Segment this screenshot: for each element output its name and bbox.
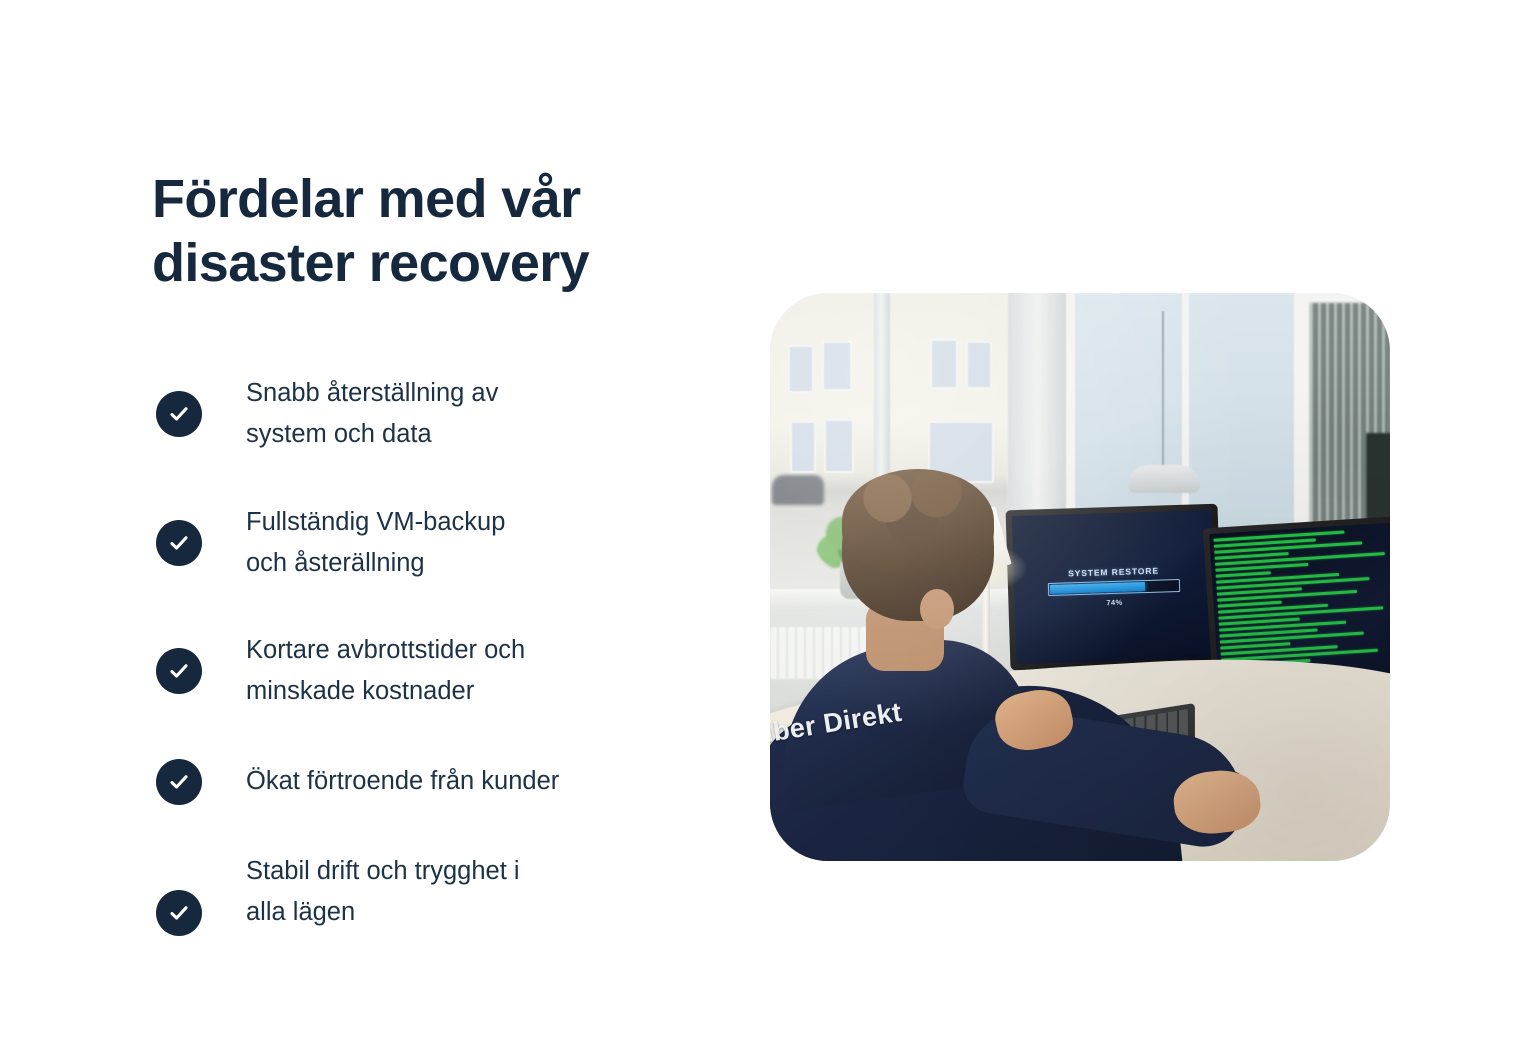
progress-percent-label: 74% [1106,598,1122,608]
check-circle-icon [156,759,202,805]
system-restore-screen: SYSTEM RESTORE 74% [1012,510,1217,664]
benefit-label: Fullständig VM-backup och åsterällning [246,502,505,585]
check-circle-icon [156,648,202,694]
slide-root: Fördelar med vår disaster recovery Snabb… [0,0,1533,1040]
technician-hair [842,469,994,573]
building-window [822,341,852,391]
list-item: Ökat förtroende från kunder [152,759,712,805]
parked-car [772,475,824,505]
benefit-label: Snabb återställning av system och data [246,373,498,456]
building-window [788,345,814,393]
building-window [824,419,854,473]
list-item: Kortare avbrottstider och minskade kostn… [152,630,712,713]
list-item: Fullständig VM-backup och åsterällning [152,502,712,585]
office-scene-image: SYSTEM RESTORE 74% [770,293,1390,861]
progress-bar [1048,579,1180,596]
building-window [966,341,992,389]
wall-screen [1366,433,1390,525]
list-item: Snabb återställning av system och data [152,373,712,456]
check-circle-icon [156,890,202,936]
page-title: Fördelar med vår disaster recovery [152,168,712,295]
technician-ear [920,589,954,629]
building-window [930,339,958,389]
restore-title: SYSTEM RESTORE [1068,566,1159,579]
hero-photo: SYSTEM RESTORE 74% [770,293,1390,861]
benefit-label: Kortare avbrottstider och minskade kostn… [246,630,525,713]
check-circle-icon [156,520,202,566]
pendant-lamp-cord [1162,311,1164,471]
content-column: Fördelar med vår disaster recovery Snabb… [152,168,712,295]
benefit-label: Stabil drift och trygghet i alla lägen [246,851,520,934]
list-item: Stabil drift och trygghet i alla lägen [152,851,712,934]
benefits-list: Snabb återställning av system och data F… [152,373,712,933]
pendant-lamp-icon [1128,465,1200,493]
benefit-label: Ökat förtroende från kunder [246,761,559,802]
building-window [790,421,816,473]
check-circle-icon [156,391,202,437]
progress-bar-fill [1050,582,1145,594]
left-monitor: SYSTEM RESTORE 74% [1006,504,1223,671]
